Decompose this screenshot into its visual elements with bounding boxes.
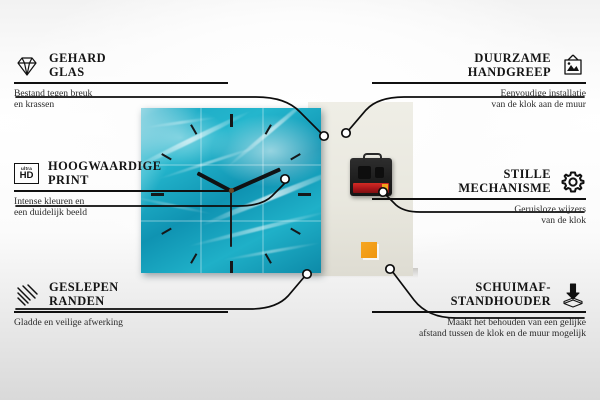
feature-rule xyxy=(372,82,586,83)
feature-rule xyxy=(14,82,228,83)
feature-title: STILLE MECHANISME xyxy=(458,168,551,195)
ultra-hd-icon: ultra HD xyxy=(14,163,39,184)
feature-rule xyxy=(14,311,228,312)
arrow-down-pad-icon xyxy=(560,282,586,308)
feature-description: Geruisloze wijzers van de klok xyxy=(372,204,586,227)
feature-hoogwaardige-print[interactable]: ultra HD HOOGWAARDIGE PRINT Intense kleu… xyxy=(14,160,228,218)
feature-title: DUURZAME HANDGREEP xyxy=(468,52,551,79)
mechanism-detail xyxy=(358,166,371,179)
feature-title: SCHUIMAF- STANDHOUDER xyxy=(451,281,551,308)
feature-stille-mechanisme[interactable]: STILLE MECHANISME Geruisloze wijzers van… xyxy=(372,168,586,226)
feature-title: GESLEPEN RANDEN xyxy=(49,281,119,308)
gear-icon xyxy=(560,169,586,195)
feature-description: Eenvoudige installatie van de klok aan d… xyxy=(372,88,586,111)
feature-gehard-glas[interactable]: GEHARD GLAS Bestand tegen breuk en krass… xyxy=(14,52,228,110)
feature-schuimafstandhouder[interactable]: SCHUIMAF- STANDHOUDER Maakt het behouden… xyxy=(372,281,586,339)
feature-header: DUURZAME HANDGREEP xyxy=(372,52,586,79)
foam-spacer xyxy=(361,242,377,258)
diamond-icon xyxy=(14,53,40,79)
feature-description: Intense kleuren en een duidelijk beeld xyxy=(14,196,228,219)
feature-header: SCHUIMAF- STANDHOUDER xyxy=(372,281,586,308)
feature-header: ultra HD HOOGWAARDIGE PRINT xyxy=(14,160,228,187)
feather-streak xyxy=(222,241,320,261)
feature-header: STILLE MECHANISME xyxy=(372,168,586,195)
feature-duurzame-handgreep[interactable]: DUURZAME HANDGREEP Eenvoudige installati… xyxy=(372,52,586,110)
feature-description: Gladde en veilige afwerking xyxy=(14,317,228,328)
hd-label: HD xyxy=(20,171,34,181)
feature-rule xyxy=(14,190,228,191)
feature-description: Maakt het behouden van een gelijke afsta… xyxy=(372,317,586,340)
feature-description: Bestand tegen breuk en krassen xyxy=(14,88,228,111)
feature-title: HOOGWAARDIGE PRINT xyxy=(48,160,161,187)
feature-title: GEHARD GLAS xyxy=(49,52,106,79)
feather-streak xyxy=(145,116,217,129)
feature-header: GESLEPEN RANDEN xyxy=(14,281,228,308)
hanging-frame-icon xyxy=(560,53,586,79)
diagonal-lines-icon xyxy=(14,282,40,308)
feature-header: GEHARD GLAS xyxy=(14,52,228,79)
feature-rule xyxy=(372,311,586,312)
infographic-canvas: GEHARD GLAS Bestand tegen breuk en krass… xyxy=(0,0,600,400)
feature-geslepen-randen[interactable]: GESLEPEN RANDEN Gladde en veilige afwerk… xyxy=(14,281,228,328)
clock-hub xyxy=(229,188,234,193)
feature-rule xyxy=(372,198,586,199)
